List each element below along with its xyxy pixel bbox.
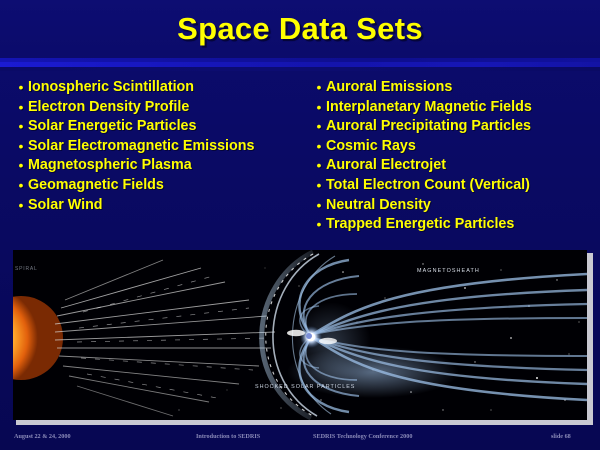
bullet-dot-icon: •	[14, 117, 28, 137]
list-item-label: Auroral Electrojet	[326, 156, 446, 176]
list-item: • Total Electron Count (Vertical)	[312, 176, 600, 196]
bullet-column-left: • Ionospheric Scintillation • Electron D…	[0, 78, 302, 235]
bullet-dot-icon: •	[312, 196, 326, 216]
caption-left-edge: SPIRAL	[15, 266, 38, 272]
list-item: • Interplanetary Magnetic Fields	[312, 98, 600, 118]
list-item-label: Magnetospheric Plasma	[28, 156, 192, 176]
bullet-dot-icon: •	[312, 117, 326, 137]
list-item-label: Auroral Emissions	[326, 78, 452, 98]
list-item: • Cosmic Rays	[312, 137, 600, 157]
bullet-dot-icon: •	[312, 156, 326, 176]
list-item-label: Solar Wind	[28, 196, 103, 216]
bullet-dot-icon: •	[14, 78, 28, 98]
list-item: • Magnetospheric Plasma	[14, 156, 302, 176]
list-item: • Auroral Emissions	[312, 78, 600, 98]
list-item-label: Electron Density Profile	[28, 98, 189, 118]
list-item: • Trapped Energetic Particles	[312, 215, 600, 235]
magnetosphere-illustration: MAGNETOSHEATH SHOCKED SOLAR PARTICLES SP…	[13, 250, 590, 422]
list-item: • Solar Energetic Particles	[14, 117, 302, 137]
list-item-label: Ionospheric Scintillation	[28, 78, 194, 98]
footer-slide-number: slide 68	[551, 433, 571, 440]
title-zone: Space Data Sets	[0, 0, 600, 58]
bullet-dot-icon: •	[312, 137, 326, 157]
list-item: • Geomagnetic Fields	[14, 176, 302, 196]
list-item: • Ionospheric Scintillation	[14, 78, 302, 98]
list-item-label: Total Electron Count (Vertical)	[326, 176, 530, 196]
bullet-columns: • Ionospheric Scintillation • Electron D…	[0, 78, 600, 235]
bullet-dot-icon: •	[14, 98, 28, 118]
list-item-label: Cosmic Rays	[326, 137, 416, 157]
earth	[300, 326, 322, 348]
page-title: Space Data Sets	[177, 11, 423, 47]
list-item: • Auroral Electrojet	[312, 156, 600, 176]
list-item: • Solar Electromagnetic Emissions	[14, 137, 302, 157]
list-item-label: Trapped Energetic Particles	[326, 215, 514, 235]
list-item: • Electron Density Profile	[14, 98, 302, 118]
list-item: • Solar Wind	[14, 196, 302, 216]
list-item-label: Solar Energetic Particles	[28, 117, 196, 137]
magnetosphere-svg: MAGNETOSHEATH SHOCKED SOLAR PARTICLES SP…	[13, 250, 587, 420]
footer-subtitle: Introduction to SEDRIS	[196, 433, 260, 440]
bullet-column-right: • Auroral Emissions • Interplanetary Mag…	[302, 78, 600, 235]
bullet-dot-icon: •	[14, 156, 28, 176]
slide-footer: August 22 & 24, 2000 Introduction to SED…	[0, 430, 600, 444]
bullet-dot-icon: •	[312, 176, 326, 196]
bullet-dot-icon: •	[14, 137, 28, 157]
bullet-dot-icon: •	[312, 98, 326, 118]
divider-stripe-bottom	[0, 67, 600, 71]
caption-magnetosheath: MAGNETOSHEATH	[417, 268, 480, 274]
bullet-dot-icon: •	[14, 176, 28, 196]
list-item-label: Interplanetary Magnetic Fields	[326, 98, 532, 118]
title-divider-band	[0, 58, 600, 71]
footer-conference: SEDRIS Technology Conference 2000	[313, 433, 412, 440]
bullet-dot-icon: •	[312, 78, 326, 98]
caption-shocked-solar-particles: SHOCKED SOLAR PARTICLES	[255, 384, 355, 390]
bullet-dot-icon: •	[312, 215, 326, 235]
bullet-dot-icon: •	[14, 196, 28, 216]
list-item-label: Neutral Density	[326, 196, 431, 216]
list-item: • Auroral Precipitating Particles	[312, 117, 600, 137]
list-item-label: Solar Electromagnetic Emissions	[28, 137, 254, 157]
list-item-label: Geomagnetic Fields	[28, 176, 164, 196]
north-polar-jet	[287, 330, 305, 336]
south-polar-jet	[319, 338, 337, 344]
slide-root: Space Data Sets • Ionospheric Scintillat…	[0, 0, 600, 450]
list-item: • Neutral Density	[312, 196, 600, 216]
footer-date: August 22 & 24, 2000	[14, 433, 71, 440]
image-frame: MAGNETOSHEATH SHOCKED SOLAR PARTICLES SP…	[13, 250, 587, 420]
list-item-label: Auroral Precipitating Particles	[326, 117, 531, 137]
